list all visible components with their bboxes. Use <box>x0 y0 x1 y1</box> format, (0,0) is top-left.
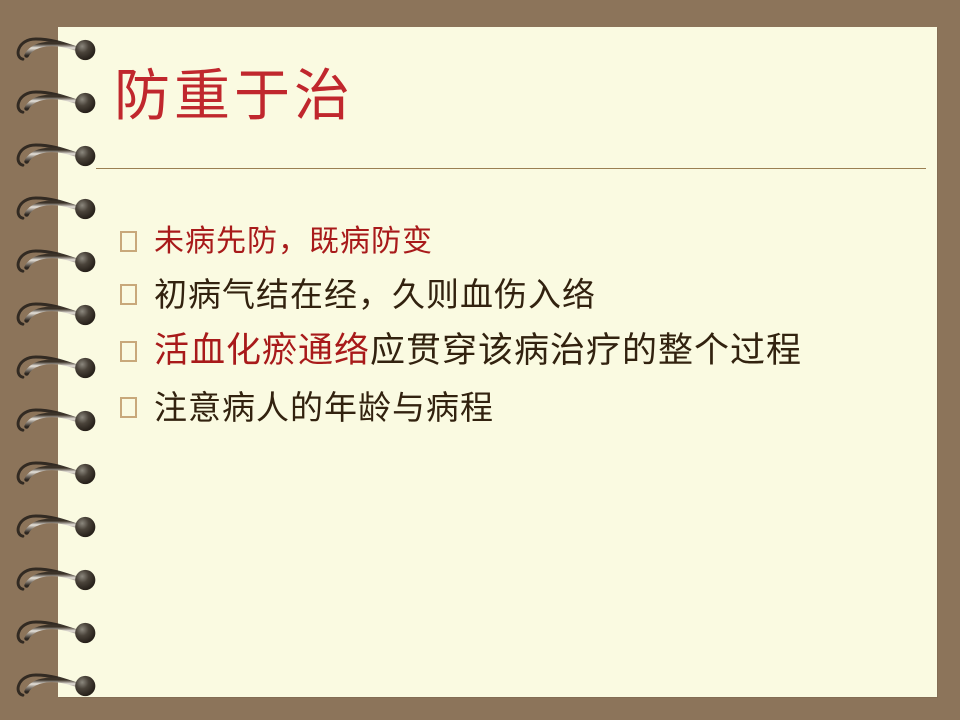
list-item-label: 活血化瘀通络应贯穿该病治疗的整个过程 <box>154 328 802 375</box>
list-item: 注意病人的年龄与病程 <box>120 386 920 430</box>
text-segment: 未病先防，既病防变 <box>154 224 433 259</box>
square-outline-bullet-icon <box>120 397 137 418</box>
slide-canvas: 防重于治 未病先防，既病防变 初病气结在经，久则血伤入络 活血化瘀通络应贯穿该病… <box>0 0 960 720</box>
list-item-label: 初病气结在经，久则血伤入络 <box>154 273 596 317</box>
text-segment: 活血化瘀通络 <box>154 331 370 371</box>
list-item-label: 注意病人的年龄与病程 <box>154 386 494 430</box>
list-item: 未病先防，既病防变 <box>120 222 920 262</box>
list-item: 初病气结在经，久则血伤入络 <box>120 273 920 317</box>
title-block: 防重于治 <box>58 60 928 172</box>
list-item-label: 未病先防，既病防变 <box>154 222 433 262</box>
square-outline-bullet-icon <box>120 231 137 252</box>
page-title: 防重于治 <box>114 60 354 134</box>
bullet-list: 未病先防，既病防变 初病气结在经，久则血伤入络 活血化瘀通络应贯穿该病治疗的整个… <box>120 222 920 441</box>
title-divider <box>96 168 926 169</box>
square-outline-bullet-icon <box>120 341 137 362</box>
list-item: 活血化瘀通络应贯穿该病治疗的整个过程 <box>120 328 920 375</box>
text-segment: 应贯穿该病治疗的整个过程 <box>370 331 802 371</box>
square-outline-bullet-icon <box>120 284 137 305</box>
text-segment: 初病气结在经，久则血伤入络 <box>154 275 596 314</box>
text-segment: 注意病人的年龄与病程 <box>154 388 494 427</box>
